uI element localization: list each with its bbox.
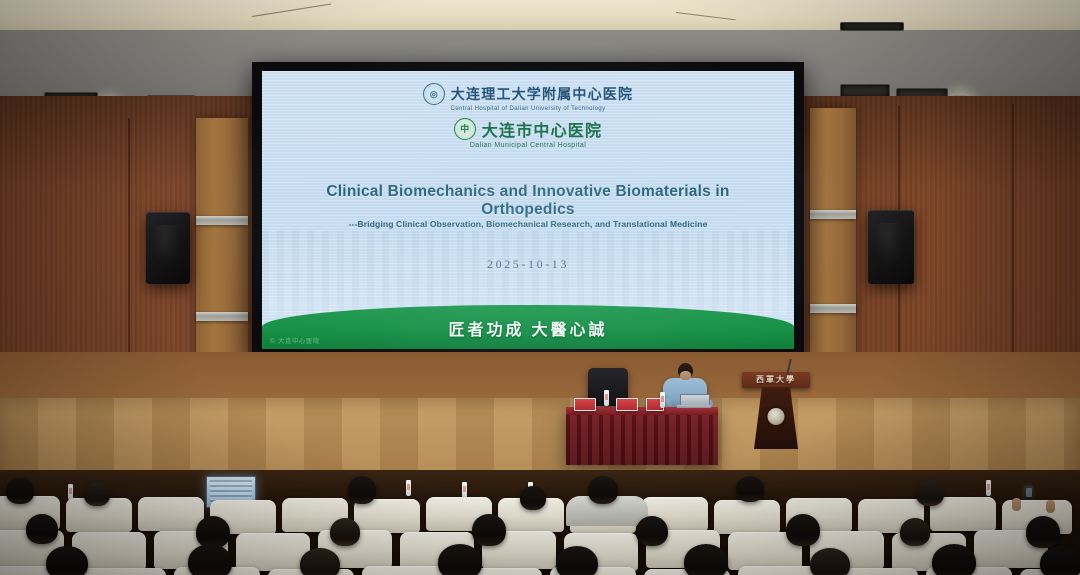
audience-head — [26, 514, 58, 544]
water-bottle — [986, 480, 991, 496]
org-secondary-chinese: 大连市中心医院 — [482, 117, 602, 141]
audience-head — [300, 548, 340, 575]
audience-head — [636, 516, 668, 546]
wall-trim-band — [810, 304, 856, 313]
name-card — [574, 398, 596, 411]
audience-head — [6, 478, 34, 504]
audience-head — [684, 544, 728, 575]
water-bottle — [604, 390, 609, 406]
audience-head — [520, 486, 546, 510]
head-table — [566, 407, 718, 465]
auditorium-photo: ◎ 大连理工大学附属中心医院 Central Hospital of Dalia… — [0, 0, 1080, 575]
audience-head — [472, 514, 506, 546]
audience-head — [932, 544, 976, 575]
audience-head — [438, 544, 482, 575]
slide-title: Clinical Biomechanics and Innovative Bio… — [280, 183, 776, 219]
auditorium-seat — [354, 499, 420, 533]
university-seal-icon — [768, 408, 785, 425]
audience-hand — [1046, 500, 1055, 513]
presenter-face — [680, 371, 691, 380]
audience-head — [786, 514, 820, 546]
projection-screen: ◎ 大连理工大学附属中心医院 Central Hospital of Dalia… — [252, 62, 804, 358]
audience-hand — [1012, 498, 1021, 511]
green-circle-seal-icon: 中 — [454, 118, 476, 140]
auditorium-seat — [362, 566, 448, 575]
auditorium-seat — [138, 497, 204, 531]
laptop-keyboard — [677, 405, 711, 408]
lectern-top: 西軍大學 — [742, 372, 810, 388]
slide-green-banner: 匠者功成 大醫心誠 © 大连中心医院 — [262, 305, 794, 349]
circular-seal-icon: ◎ — [423, 83, 445, 105]
slide-banner-corner-mark: © 大连中心医院 — [270, 336, 320, 345]
wall-speaker-left-upper — [146, 212, 190, 284]
audience-head — [46, 546, 88, 575]
audience-head — [556, 546, 598, 575]
audience-head — [1026, 516, 1060, 548]
org-primary-english: Central Hospital of Dalian University of… — [262, 106, 794, 112]
auditorium-seat — [714, 500, 780, 534]
audience-head — [900, 518, 930, 546]
org-primary-chinese: 大连理工大学附属中心医院 — [451, 84, 633, 104]
audience-head — [1040, 546, 1080, 575]
audience-head — [330, 518, 360, 546]
org-secondary-english: Dalian Municipal Central Hospital — [262, 142, 794, 149]
lectern-engraved-text: 西軍大學 — [742, 374, 810, 385]
water-bottle — [406, 480, 411, 496]
wall-trim-band — [810, 210, 856, 219]
presenter-laptop[interactable] — [680, 394, 708, 408]
auditorium-seat — [80, 568, 166, 575]
wall-trim-band — [196, 312, 248, 321]
wall-trim-band — [196, 216, 248, 225]
org-primary-row: ◎ 大连理工大学附属中心医院 — [262, 83, 794, 105]
water-bottle — [660, 392, 665, 408]
audience-head — [188, 544, 232, 575]
water-bottle — [462, 482, 467, 498]
wall-speaker-right-upper — [868, 210, 914, 284]
audience-head — [736, 476, 764, 502]
audience-head — [84, 482, 110, 506]
slide-banner-motto: 匠者功成 大醫心誠 — [262, 316, 794, 340]
auditorium-seat — [236, 533, 310, 571]
audience-head — [916, 480, 944, 506]
smartphone-icon[interactable] — [1024, 486, 1033, 500]
slide-watermark-image — [262, 231, 794, 315]
lectern: 西軍大學 — [742, 372, 810, 464]
name-card — [616, 398, 638, 411]
audience-head — [588, 476, 618, 504]
slide-subtitle: ---Bridging Clinical Observation, Biomec… — [284, 219, 772, 229]
projected-slide: ◎ 大连理工大学附属中心医院 Central Hospital of Dalia… — [262, 71, 794, 349]
audience-head — [348, 476, 376, 504]
slide-logo-block: ◎ 大连理工大学附属中心医院 Central Hospital of Dalia… — [262, 83, 794, 149]
table-skirt-pleats — [566, 415, 718, 465]
audience-area — [0, 470, 1080, 575]
org-secondary-row: 中 大连市中心医院 — [262, 117, 794, 141]
audience-head — [810, 548, 850, 575]
slide-date: 2025-10-13 — [262, 257, 794, 272]
